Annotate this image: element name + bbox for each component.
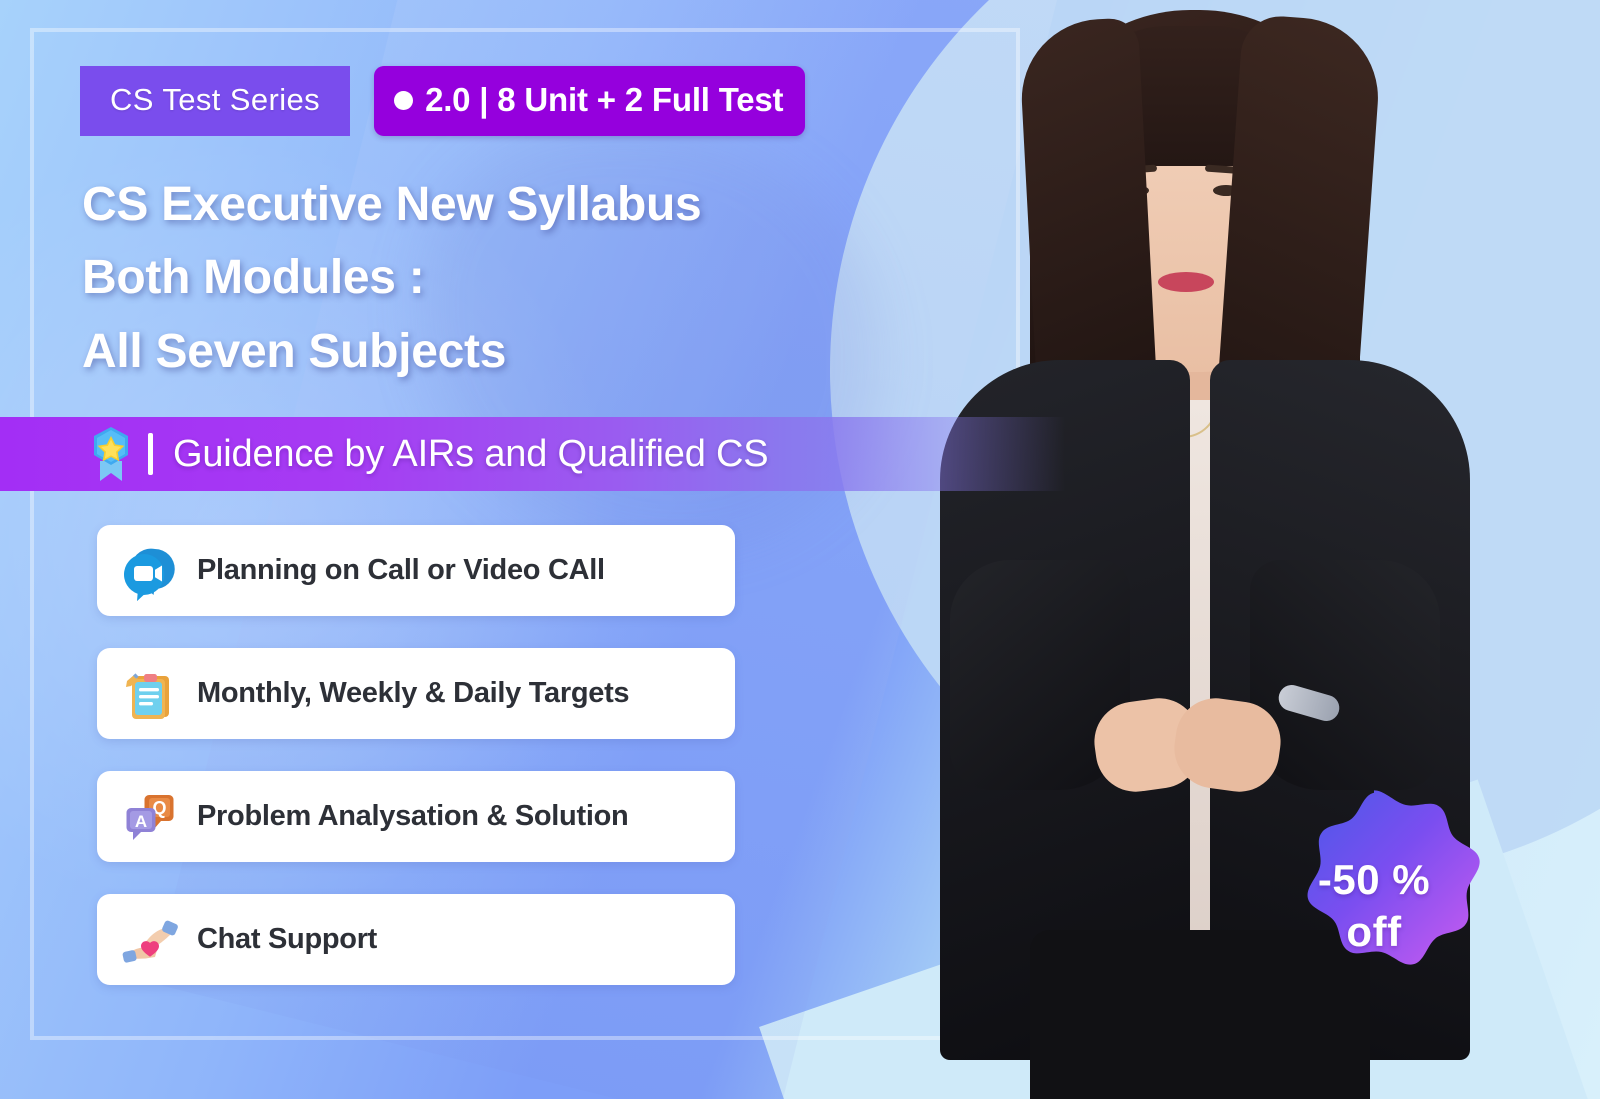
guidance-strip-inner: Guidence by AIRs and Qualified CS bbox=[88, 425, 768, 483]
video-call-chat-icon bbox=[119, 540, 181, 602]
feature-label: Monthly, Weekly & Daily Targets bbox=[197, 677, 629, 710]
version-badge: 2.0 | 8 Unit + 2 Full Test bbox=[374, 66, 805, 136]
discount-badge[interactable]: -50 % off bbox=[1248, 783, 1500, 1028]
feature-card-planning[interactable]: Planning on Call or Video CAll bbox=[97, 525, 735, 616]
badge-row: CS Test Series 2.0 | 8 Unit + 2 Full Tes… bbox=[80, 66, 805, 136]
feature-card-problem[interactable]: Q A Problem Analysation & Solution bbox=[97, 771, 735, 862]
headline-line-3: All Seven Subjects bbox=[82, 315, 701, 388]
feature-label: Chat Support bbox=[197, 923, 377, 956]
hands-heart-icon bbox=[119, 909, 181, 971]
promo-banner: CS Test Series 2.0 | 8 Unit + 2 Full Tes… bbox=[0, 0, 1600, 1099]
series-badge-label: CS Test Series bbox=[110, 82, 320, 118]
headline-line-1: CS Executive New Syllabus bbox=[82, 168, 701, 241]
series-badge: CS Test Series bbox=[80, 66, 350, 136]
feature-label: Problem Analysation & Solution bbox=[197, 800, 628, 833]
svg-text:A: A bbox=[135, 812, 147, 831]
lips-shape bbox=[1158, 272, 1214, 292]
feature-card-targets[interactable]: Monthly, Weekly & Daily Targets bbox=[97, 648, 735, 739]
banner-content: CS Test Series 2.0 | 8 Unit + 2 Full Tes… bbox=[0, 0, 1060, 1099]
version-badge-label: 2.0 | 8 Unit + 2 Full Test bbox=[425, 81, 783, 119]
feature-list: Planning on Call or Video CAll bbox=[97, 525, 735, 985]
question-answer-icon: Q A bbox=[119, 786, 181, 848]
guidance-strip: Guidence by AIRs and Qualified CS bbox=[0, 417, 1065, 491]
guidance-strip-label: Guidence by AIRs and Qualified CS bbox=[173, 433, 768, 476]
headline: CS Executive New Syllabus Both Modules :… bbox=[82, 168, 701, 388]
feature-card-chat-support[interactable]: Chat Support bbox=[97, 894, 735, 985]
clipboard-pen-icon bbox=[119, 663, 181, 725]
strip-divider bbox=[148, 433, 153, 475]
bullet-dot-icon bbox=[394, 91, 413, 110]
star-medal-icon bbox=[88, 425, 134, 483]
headline-line-2: Both Modules : bbox=[82, 241, 701, 314]
feature-label: Planning on Call or Video CAll bbox=[197, 554, 605, 587]
